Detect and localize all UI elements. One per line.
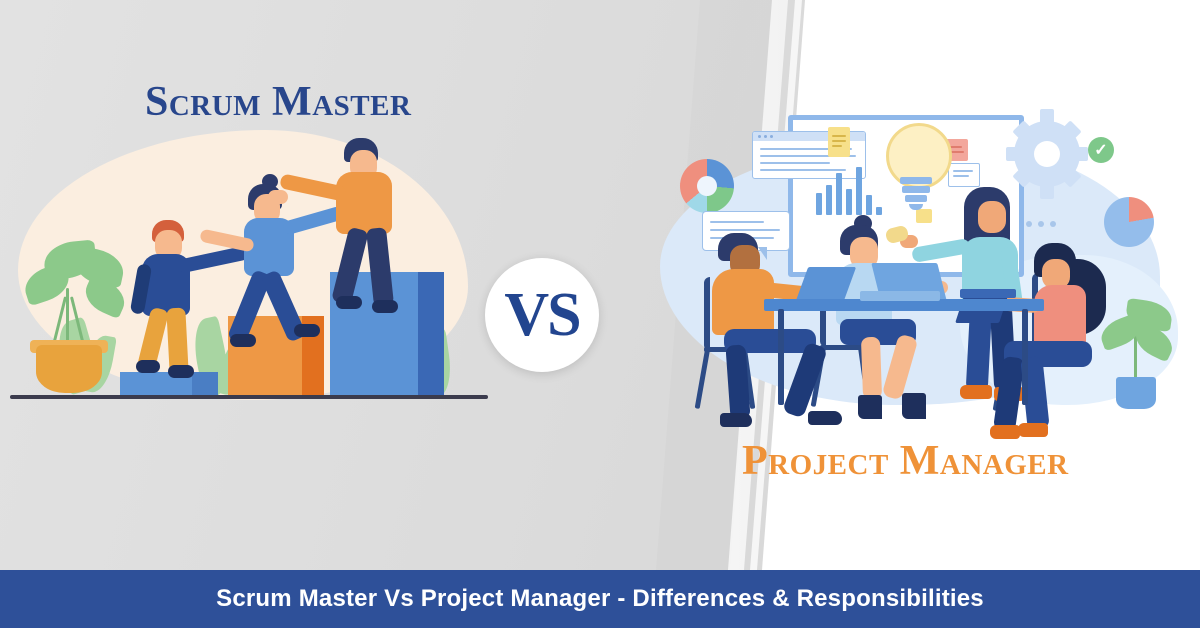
note-line — [953, 175, 969, 177]
note-line — [832, 140, 846, 142]
check-circle-icon: ✓ — [1088, 137, 1114, 163]
laptop-keyboard — [860, 291, 940, 301]
window-dot — [770, 135, 773, 138]
lightbulb-base — [905, 195, 927, 202]
plant-pot — [36, 345, 102, 393]
figure-head — [978, 201, 1006, 233]
scrum-master-title: Scrum Master — [145, 78, 411, 126]
figure-shoe — [808, 411, 842, 425]
figure-shoe — [1018, 423, 1048, 437]
figure-shoe — [960, 385, 992, 399]
figure-shoe — [230, 334, 256, 347]
laptop-keyboard — [960, 289, 1016, 298]
figure-hand — [268, 190, 288, 204]
bar-chart-column — [866, 195, 872, 215]
ellipsis-dot — [1038, 221, 1044, 227]
project-manager-illustration: ✓ — [660, 105, 1180, 435]
bar-chart-column — [846, 189, 852, 215]
figure-leg — [861, 337, 882, 400]
table-leg — [1022, 309, 1028, 405]
figure-shoe — [372, 300, 398, 313]
vs-badge-text: VS — [504, 284, 579, 346]
bar-chart-column — [826, 185, 832, 215]
bar-chart-column — [876, 207, 882, 215]
ellipsis-dot — [1026, 221, 1032, 227]
gear-hole — [1034, 141, 1060, 167]
pie-chart — [1104, 197, 1154, 247]
lightbulb-base — [902, 186, 930, 193]
project-manager-title: Project Manager — [742, 437, 1069, 485]
sticky-note-yellow — [828, 127, 850, 157]
sticky-note-small — [916, 209, 932, 223]
bar-chart-column — [856, 167, 862, 215]
caption-bar: Scrum Master Vs Project Manager - Differ… — [0, 570, 1200, 628]
bar-chart-column — [816, 193, 822, 215]
donut-chart-hole — [697, 176, 717, 196]
figure-torso — [1034, 285, 1086, 347]
figure-shoe — [168, 365, 194, 378]
figure-heel — [858, 395, 882, 419]
sticky-note-white — [948, 163, 980, 187]
ground-line — [10, 395, 488, 399]
table-leg — [778, 309, 784, 405]
figure-shoe — [336, 296, 362, 309]
figure-shoe — [294, 324, 320, 337]
figure-torso — [336, 172, 392, 234]
note-line — [832, 135, 846, 137]
infographic-canvas: Scrum Master — [0, 0, 1200, 628]
window-dot — [758, 135, 761, 138]
lightbulb-base — [900, 177, 932, 184]
bar-chart-column — [836, 173, 842, 215]
window-text-line — [760, 162, 830, 164]
note-line — [832, 145, 842, 147]
plant-pot — [1116, 377, 1156, 409]
figure-shoe — [720, 413, 752, 427]
note-line — [953, 170, 973, 172]
window-text-line — [760, 169, 846, 171]
vs-badge: VS — [485, 258, 599, 372]
ellipsis-dot — [1050, 221, 1056, 227]
scrum-master-illustration — [0, 120, 510, 410]
figure-shoe — [136, 360, 160, 373]
bubble-text-line — [710, 221, 764, 223]
figure-heel — [902, 393, 926, 419]
bubble-text-line — [710, 229, 780, 231]
window-dot — [764, 135, 767, 138]
caption-text: Scrum Master Vs Project Manager - Differ… — [216, 585, 984, 613]
